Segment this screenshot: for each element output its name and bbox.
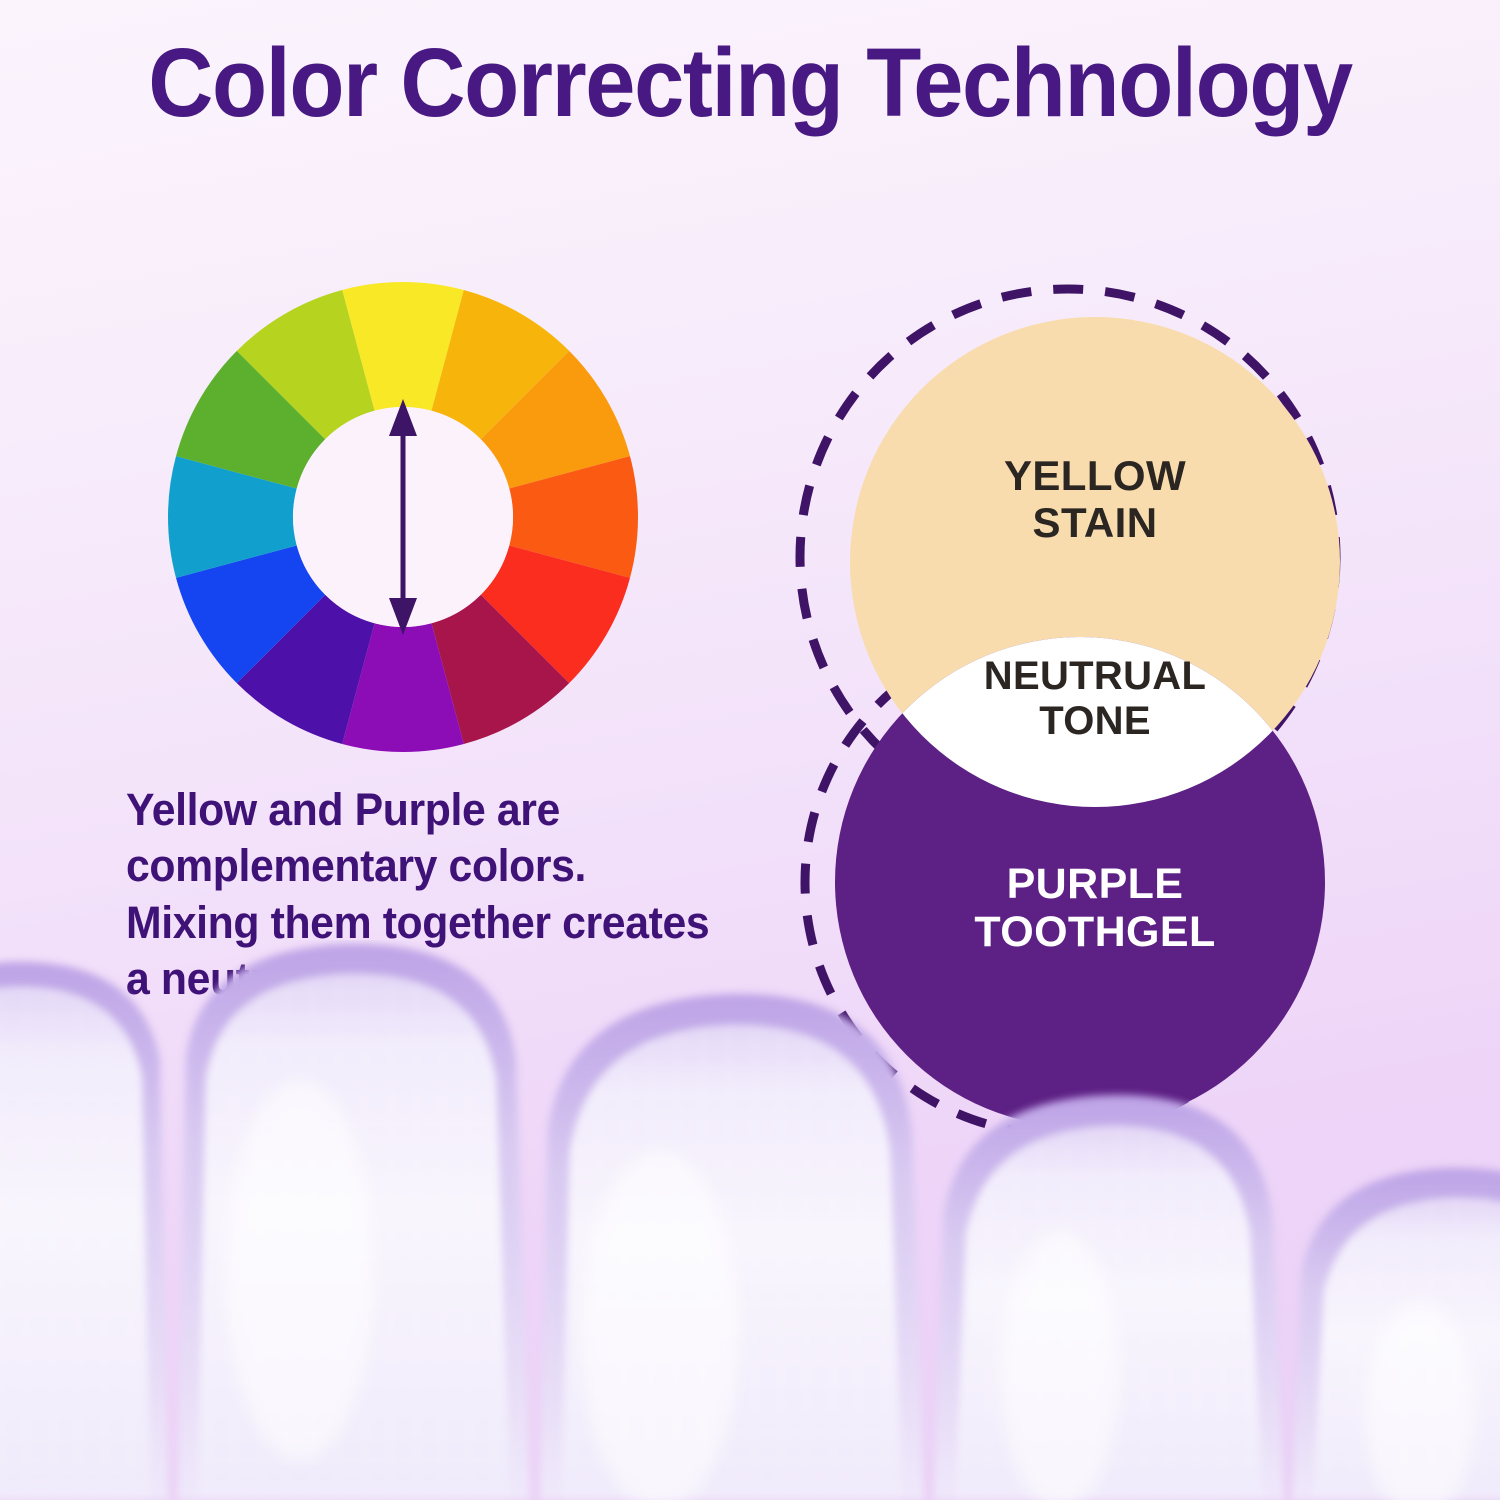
color-wheel	[168, 282, 638, 752]
page-title: Color Correcting Technology	[53, 34, 1448, 131]
tooth-group	[0, 944, 1500, 1500]
yellow-stain-label: YELLOW STAIN	[905, 452, 1285, 546]
infographic-root: Color Correcting Technology Yellow and P…	[0, 0, 1500, 1500]
teeth-photo-svg	[0, 940, 1500, 1500]
color-wheel-svg	[168, 282, 638, 752]
teeth-macro-photo	[0, 940, 1500, 1500]
tooth-1	[0, 962, 168, 1500]
neutral-tone-label: NEUTRUAL TONE	[905, 654, 1285, 744]
